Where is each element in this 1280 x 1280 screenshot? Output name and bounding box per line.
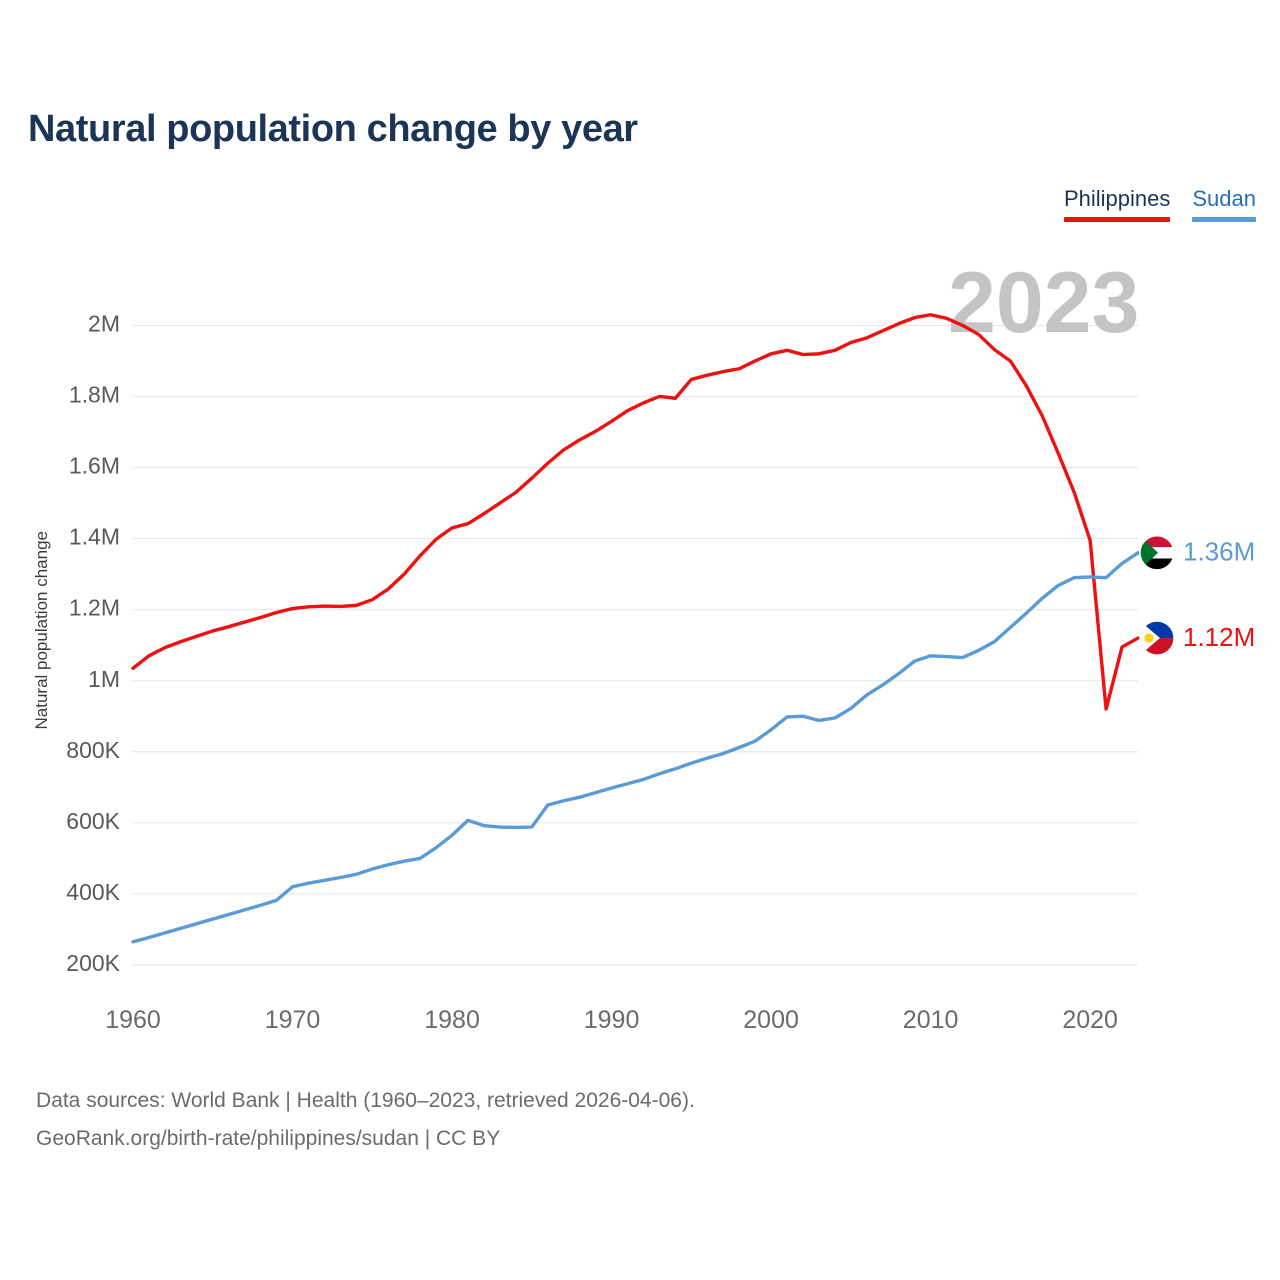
x-tick-label: 2010 bbox=[903, 1006, 959, 1034]
y-axis-tick-labels: 200K400K600K800K1M1.2M1.4M1.6M1.8M2M bbox=[66, 310, 120, 975]
x-tick-label: 2000 bbox=[743, 1006, 799, 1034]
x-tick-label: 1960 bbox=[105, 1006, 161, 1034]
x-axis-tick-labels: 1960197019801990200020102020 bbox=[105, 1006, 1118, 1034]
x-tick-label: 1970 bbox=[265, 1006, 321, 1034]
y-tick-label: 1.8M bbox=[69, 382, 120, 408]
legend-swatch-philippines bbox=[1064, 217, 1170, 222]
chart-page: Natural population change by year Philip… bbox=[0, 0, 1280, 1280]
end-label-value-sudan: 1.36M bbox=[1183, 537, 1255, 567]
x-tick-label: 2020 bbox=[1062, 1006, 1118, 1034]
legend-label-sudan: Sudan bbox=[1192, 186, 1256, 212]
chart-legend: Philippines Sudan bbox=[1064, 186, 1256, 222]
y-tick-label: 200K bbox=[66, 950, 120, 976]
legend-item-philippines[interactable]: Philippines bbox=[1064, 186, 1170, 222]
year-watermark: 2023 bbox=[948, 255, 1139, 351]
philippines-flag-icon bbox=[1140, 621, 1174, 655]
y-tick-label: 1M bbox=[88, 666, 120, 692]
y-tick-label: 2M bbox=[88, 310, 120, 336]
page-title: Natural population change by year bbox=[28, 108, 638, 151]
legend-item-sudan[interactable]: Sudan bbox=[1192, 186, 1256, 222]
legend-swatch-sudan bbox=[1192, 217, 1256, 222]
y-tick-label: 1.4M bbox=[69, 524, 120, 550]
line-chart: 200K400K600K800K1M1.2M1.4M1.6M1.8M2M 196… bbox=[0, 250, 1280, 1050]
footer-line-sources: Data sources: World Bank | Health (1960–… bbox=[36, 1082, 695, 1120]
y-tick-label: 800K bbox=[66, 737, 120, 763]
series-lines bbox=[133, 315, 1138, 942]
legend-label-philippines: Philippines bbox=[1064, 186, 1170, 212]
x-tick-label: 1980 bbox=[424, 1006, 480, 1034]
chart-footer: Data sources: World Bank | Health (1960–… bbox=[36, 1082, 695, 1158]
series-end-markers: 1.36M1.12M bbox=[1140, 536, 1255, 655]
x-tick-label: 1990 bbox=[584, 1006, 640, 1034]
y-tick-label: 400K bbox=[66, 879, 120, 905]
series-line-philippines bbox=[133, 315, 1138, 709]
y-tick-label: 1.6M bbox=[69, 453, 120, 479]
y-tick-label: 1.2M bbox=[69, 595, 120, 621]
plot-area: 200K400K600K800K1M1.2M1.4M1.6M1.8M2M 196… bbox=[0, 250, 1280, 1050]
footer-line-attribution[interactable]: GeoRank.org/birth-rate/philippines/sudan… bbox=[36, 1120, 695, 1158]
sudan-flag-icon bbox=[1140, 536, 1174, 570]
y-axis-title: Natural population change bbox=[32, 531, 51, 729]
end-label-value-philippines: 1.12M bbox=[1183, 622, 1255, 652]
y-tick-label: 600K bbox=[66, 808, 120, 834]
